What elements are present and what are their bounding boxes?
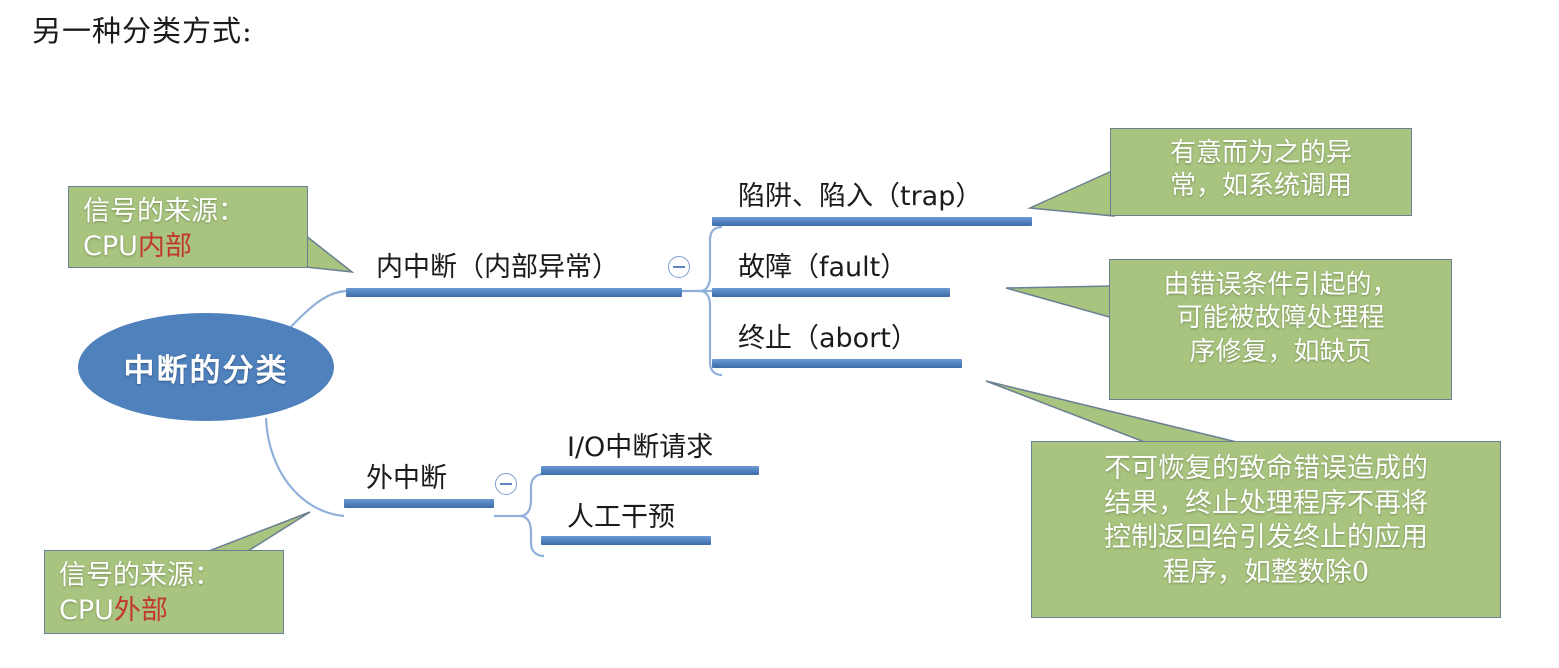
callout-line-prefix: CPU	[59, 595, 114, 626]
leaf-node-manual-intervention[interactable]: 人工干预	[541, 504, 711, 545]
callout-line: 有意而为之的异	[1117, 137, 1405, 170]
branch-node-external-interrupt[interactable]: 外中断	[344, 465, 494, 508]
leaf-underline-bar	[712, 217, 1032, 226]
branch-underline-bar	[344, 499, 494, 508]
leaf-node-fault[interactable]: 故障（fault）	[712, 254, 950, 297]
callout-line: 控制返回给引发终止的应用	[1040, 521, 1492, 556]
callout-line: 结果，终止处理程序不再将	[1040, 487, 1492, 522]
branch-underline-bar	[346, 288, 682, 297]
root-node-interrupt-classification[interactable]: 中断的分类	[78, 313, 334, 421]
root-node-label: 中断的分类	[124, 345, 289, 390]
branch-node-external-interrupt-label: 外中断	[344, 465, 494, 499]
callout-line: CPU内部	[83, 230, 307, 265]
leaf-node-trap[interactable]: 陷阱、陷入（trap）	[712, 183, 1032, 226]
callout-trap-note: 有意而为之的异 常，如系统调用	[1110, 128, 1412, 216]
callout-tail-fault-note	[1006, 286, 1113, 318]
leaf-underline-bar	[541, 466, 759, 475]
callout-tail-trap-note	[1030, 170, 1114, 216]
leaf-node-manual-intervention-label: 人工干预	[541, 504, 711, 536]
callout-line: 不可恢复的致命错误造成的	[1040, 452, 1492, 487]
callout-line: 可能被故障处理程	[1116, 302, 1445, 335]
leaf-node-io-interrupt-request-label: I/O中断请求	[541, 434, 759, 466]
callout-fault-note: 由错误条件引起的， 可能被故障处理程 序修复，如缺页	[1109, 259, 1452, 400]
callout-line: 信号的来源：	[59, 559, 283, 594]
callout-line: 序修复，如缺页	[1116, 336, 1445, 369]
callout-line: 程序，如整数除0	[1040, 556, 1492, 591]
callout-line-prefix: CPU	[83, 231, 138, 262]
callout-line: CPU外部	[59, 594, 283, 629]
callout-source-internal: 信号的来源： CPU内部	[68, 186, 308, 268]
page-title: 另一种分类方式:	[32, 8, 253, 50]
callout-source-external: 信号的来源： CPU外部	[44, 550, 284, 634]
branch-node-internal-interrupt-label: 内中断（内部异常）	[346, 254, 682, 288]
callout-abort-note: 不可恢复的致命错误造成的 结果，终止处理程序不再将 控制返回给引发终止的应用 程…	[1031, 441, 1501, 618]
leaf-node-abort[interactable]: 终止（abort）	[712, 325, 962, 368]
leaf-node-abort-label: 终止（abort）	[712, 325, 962, 359]
callout-line: 常，如系统调用	[1117, 170, 1405, 203]
mindmap-slide: 另一种分类方式: 中断的分类 内中断（内部异常） 外中断 陷阱、陷入（trap）…	[0, 0, 1559, 668]
collapse-minus-icon[interactable]	[495, 473, 517, 495]
leaf-node-trap-label: 陷阱、陷入（trap）	[712, 183, 1032, 217]
collapse-minus-icon[interactable]	[668, 256, 690, 278]
callout-line: 信号的来源：	[83, 195, 307, 230]
leaf-node-io-interrupt-request[interactable]: I/O中断请求	[541, 434, 759, 475]
callout-line-highlight: 内部	[138, 231, 192, 262]
leaf-underline-bar	[712, 288, 950, 297]
leaf-node-fault-label: 故障（fault）	[712, 254, 950, 288]
callout-line: 由错误条件引起的，	[1116, 269, 1445, 302]
leaf-underline-bar	[712, 359, 962, 368]
leaf-underline-bar	[541, 536, 711, 545]
branch-node-internal-interrupt[interactable]: 内中断（内部异常）	[346, 254, 682, 297]
callout-line-highlight: 外部	[114, 595, 168, 626]
